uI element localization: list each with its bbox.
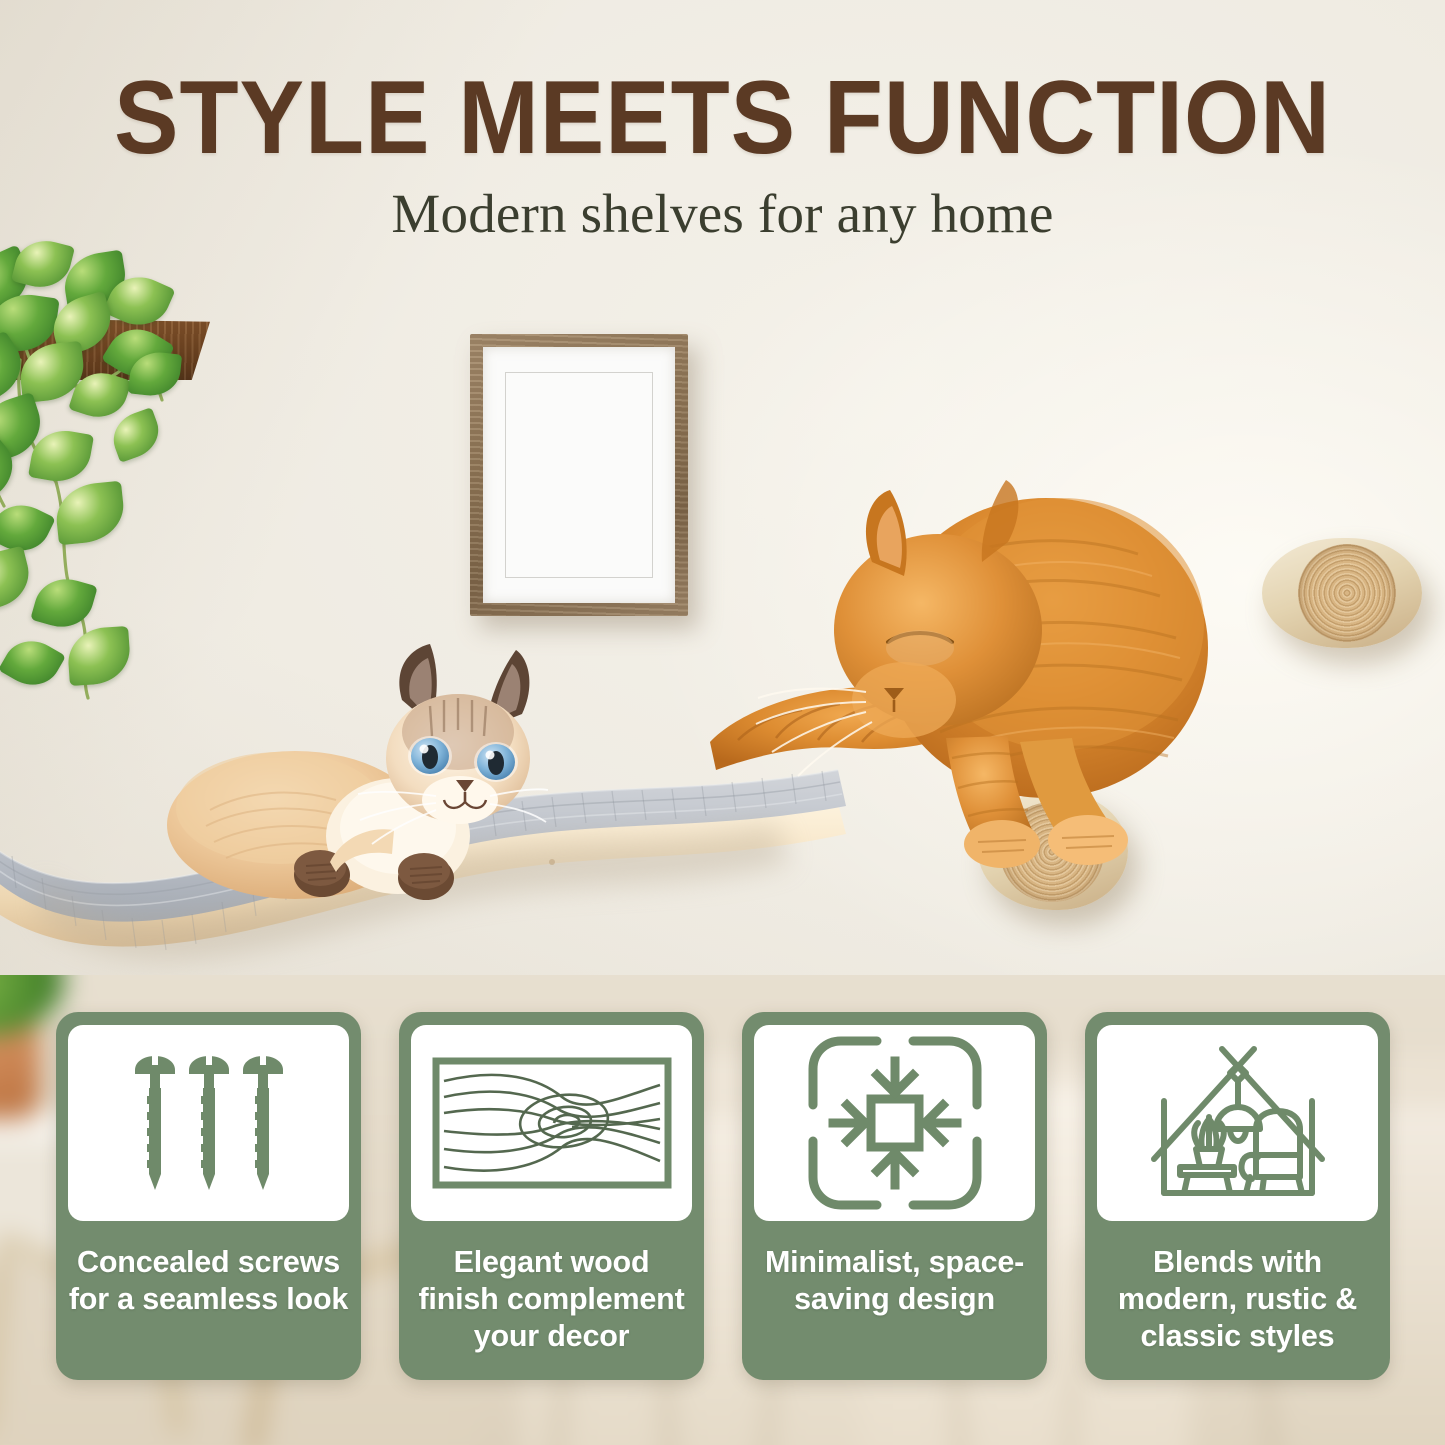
siamese-cat-svg: [130, 640, 550, 930]
feature-card-label: Minimalist, space-saving design: [754, 1244, 1035, 1318]
header: STYLE MEETS FUNCTION Modern shelves for …: [0, 0, 1445, 244]
frame-mat: [483, 347, 675, 603]
feature-cards: Concealed screws for a seamless look: [56, 1012, 1390, 1380]
product-feature-graphic: STYLE MEETS FUNCTION Modern shelves for …: [0, 0, 1445, 1445]
wood-grain-icon: [432, 1057, 672, 1189]
icon-panel: [1097, 1025, 1378, 1221]
feature-card-style-blend[interactable]: Blends with modern, rustic & classic sty…: [1085, 1012, 1390, 1380]
house-interior-icon: [1138, 1037, 1338, 1209]
sisal-step-upper: [1262, 538, 1422, 648]
wood-wall-shelf: [0, 318, 210, 380]
orange-tabby-svg: [690, 452, 1250, 872]
feature-card-label: Concealed screws for a seamless look: [68, 1244, 349, 1318]
feature-card-space-saving[interactable]: Minimalist, space-saving design: [742, 1012, 1047, 1380]
page-title: STYLE MEETS FUNCTION: [51, 66, 1395, 170]
page-subtitle: Modern shelves for any home: [0, 184, 1445, 244]
icon-panel: [68, 1025, 349, 1221]
icon-panel: [754, 1025, 1035, 1221]
screws-icon: [119, 1048, 299, 1198]
feature-card-concealed-screws[interactable]: Concealed screws for a seamless look: [56, 1012, 361, 1380]
siamese-cat: [130, 640, 550, 930]
space-saving-arrows-icon: [807, 1035, 983, 1211]
feature-card-wood-finish[interactable]: Elegant wood finish complement your deco…: [399, 1012, 704, 1380]
feature-card-label: Blends with modern, rustic & classic sty…: [1097, 1244, 1378, 1355]
pothos-vines-svg: [0, 232, 260, 702]
pothos-plant: [0, 232, 260, 702]
orange-tabby-cat: [690, 452, 1250, 872]
feature-card-label: Elegant wood finish complement your deco…: [411, 1244, 692, 1355]
picture-frame: [470, 334, 688, 616]
icon-panel: [411, 1025, 692, 1221]
sisal-rope-face: [1298, 544, 1396, 642]
